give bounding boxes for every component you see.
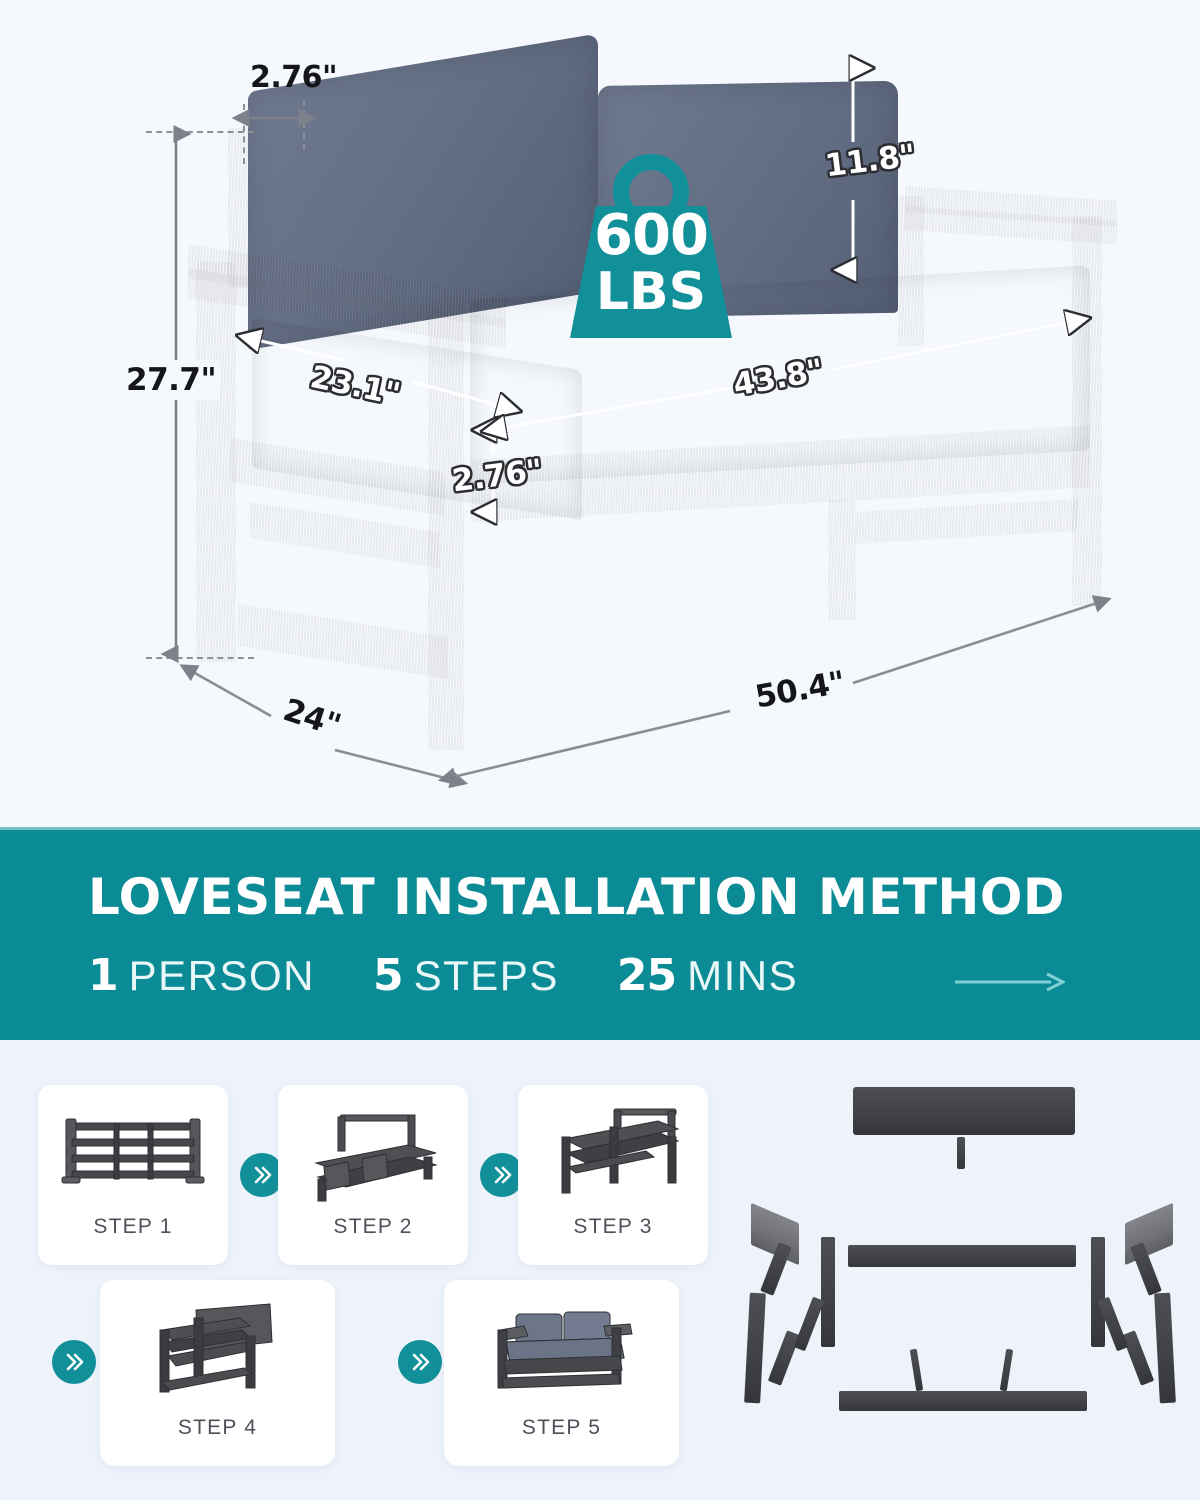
step-card-2[interactable]: STEP 2 — [278, 1085, 468, 1265]
step-chevron-3-to-4 — [52, 1340, 96, 1384]
installation-banner: LOVESEAT INSTALLATION METHOD 1 PERSON 5 … — [0, 827, 1200, 1040]
part-leg-post-front-left — [1154, 1293, 1176, 1404]
step-3-illustration — [518, 1101, 708, 1221]
step-chevron-4-to-5 — [398, 1340, 442, 1384]
step-5-illustration — [444, 1296, 679, 1416]
weight-capacity-badge: 600 LBS — [556, 150, 746, 345]
rear-bottom-stretcher — [250, 502, 440, 568]
guide-line-height-bottom — [146, 657, 254, 659]
stat-mins-label: MINS — [687, 952, 798, 1000]
double-chevron-right-icon — [409, 1351, 431, 1373]
double-chevron-right-icon — [251, 1164, 273, 1186]
step-1-label: STEP 1 — [38, 1215, 228, 1239]
guide-line-height-top — [146, 131, 254, 133]
part-center-leg-left — [910, 1349, 923, 1392]
part-side-rail-left-mid — [794, 1297, 825, 1352]
part-side-rail-right-lower — [1122, 1330, 1154, 1385]
step-3-label: STEP 3 — [518, 1215, 708, 1239]
part-seat-cushion — [847, 1277, 1085, 1349]
dimension-label-depth-top: 2.76" — [250, 60, 337, 95]
side-rail-right — [856, 499, 1078, 544]
arrow-top-depth — [243, 108, 305, 128]
step-card-4[interactable]: STEP 4 — [100, 1280, 335, 1466]
step-5-label: STEP 5 — [444, 1416, 679, 1440]
step-2-illustration — [278, 1101, 468, 1221]
banner-stats: 1 PERSON 5 STEPS 25 MINS — [88, 950, 856, 1001]
part-back-cushion-left — [839, 1137, 955, 1221]
banner-title: LOVESEAT INSTALLATION METHOD — [88, 868, 1065, 926]
double-chevron-right-icon — [63, 1351, 85, 1373]
part-side-rail-left-lower — [768, 1330, 800, 1385]
part-backrest-panel — [853, 1087, 1075, 1135]
step-card-5[interactable]: STEP 5 — [444, 1280, 679, 1466]
step-4-illustration — [100, 1296, 335, 1416]
part-bottom-rail — [839, 1391, 1087, 1411]
weight-unit: LBS — [556, 266, 746, 318]
part-backrest-center-bracket — [957, 1137, 965, 1169]
part-armrest-right — [1125, 1203, 1173, 1265]
stat-steps-label: STEPS — [414, 952, 559, 1000]
part-seat-support-rail — [848, 1245, 1076, 1267]
part-back-cushion-right — [967, 1135, 1081, 1219]
double-chevron-right-icon — [491, 1164, 513, 1186]
part-inner-post-right — [1091, 1237, 1105, 1347]
exploded-parts-diagram — [735, 1085, 1190, 1430]
stat-steps: 5 STEPS — [373, 950, 559, 1001]
part-center-leg-right — [1000, 1349, 1013, 1392]
stat-person-label: PERSON — [129, 952, 315, 1000]
stat-person: 1 PERSON — [88, 950, 315, 1001]
part-leg-post-rear-left — [744, 1293, 766, 1404]
stat-steps-number: 5 — [373, 950, 403, 1001]
step-1-illustration — [38, 1101, 228, 1221]
dimension-stage: 2.76" 27.7" — [0, 0, 1200, 827]
stat-person-number: 1 — [88, 950, 118, 1001]
stat-mins: 25 MINS — [617, 950, 798, 1001]
step-card-1[interactable]: STEP 1 — [38, 1085, 228, 1265]
long-right-arrow-icon — [955, 970, 1065, 999]
weight-value: 600 — [556, 208, 746, 264]
stat-mins-number: 25 — [617, 950, 676, 1001]
part-inner-post-left — [821, 1237, 835, 1347]
product-infographic: 2.76" 27.7" — [0, 0, 1200, 1500]
step-card-3[interactable]: STEP 3 — [518, 1085, 708, 1265]
dimension-label-height: 27.7" — [122, 360, 220, 400]
step-4-label: STEP 4 — [100, 1416, 335, 1440]
dimension-diagram-section: 2.76" 27.7" — [0, 0, 1200, 827]
step-2-label: STEP 2 — [278, 1215, 468, 1239]
installation-steps-section: STEP 1 — [0, 1040, 1200, 1500]
